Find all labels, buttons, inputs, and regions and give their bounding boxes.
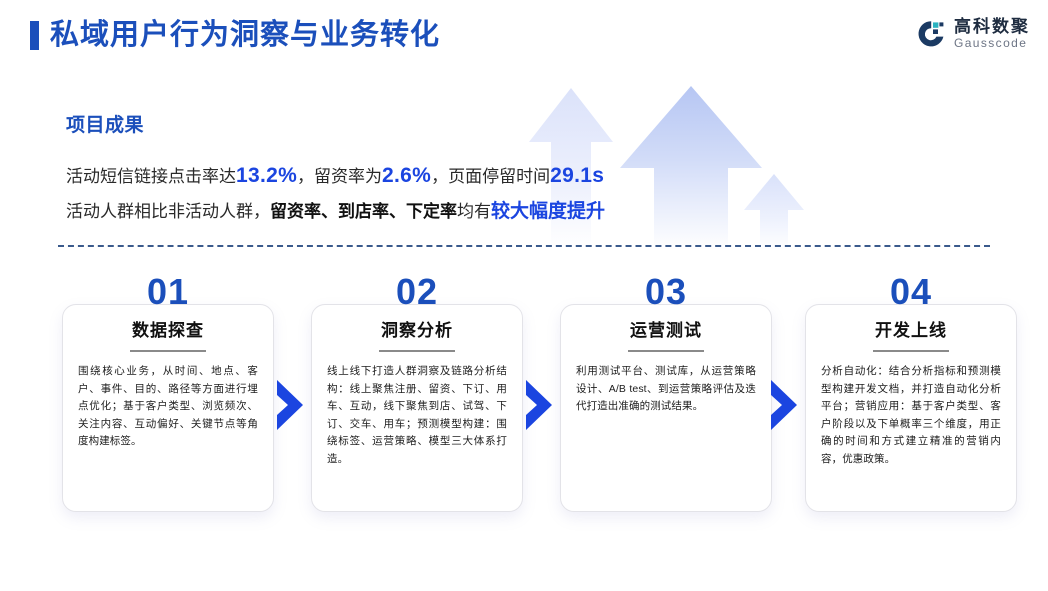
brand-text: 高科数聚 Gausscode bbox=[954, 18, 1030, 49]
section-divider bbox=[58, 245, 990, 247]
step-number-01: 01 bbox=[62, 272, 274, 312]
result-line-1: 活动短信链接点击率达13.2%，留资率为2.6%，页面停留时间29.1s bbox=[66, 158, 605, 194]
results-heading: 项目成果 bbox=[66, 110, 605, 137]
slide-header: 私域用户行为洞察与业务转化 高科数聚 Gausscode bbox=[0, 0, 1048, 78]
step-body-01: 围绕核心业务，从时间、地点、客户、事件、目的、路径等方面进行埋点优化；基于客户类… bbox=[78, 363, 258, 451]
result-line2-highlight: 较大幅度提升 bbox=[491, 201, 605, 222]
title-accent-bar bbox=[30, 21, 39, 50]
result-line1-seg2: ，留资率为 bbox=[297, 167, 382, 186]
result-line-2: 活动人群相比非活动人群，留资率、到店率、下定率均有较大幅度提升 bbox=[66, 194, 605, 229]
step-title-01: 数据探查 bbox=[78, 319, 258, 343]
result-line2-seg2: 均有 bbox=[457, 202, 491, 221]
chevron-right-icon-2 bbox=[522, 378, 556, 432]
step-title-rule bbox=[379, 350, 455, 352]
metric-dwell-time: 29.1s bbox=[550, 164, 604, 187]
process-step-03[interactable]: 03 运营测试 利用测试平台、测试库，从运营策略设计、A/B test、到运营策… bbox=[560, 272, 772, 522]
step-title-rule bbox=[628, 350, 704, 352]
process-step-01[interactable]: 01 数据探查 围绕核心业务，从时间、地点、客户、事件、目的、路径等方面进行埋点… bbox=[62, 272, 274, 522]
arrow-up-large-center-icon bbox=[618, 84, 764, 250]
metric-lead-rate: 2.6% bbox=[382, 164, 431, 187]
step-card-03[interactable]: 运营测试 利用测试平台、测试库，从运营策略设计、A/B test、到运营策略评估… bbox=[560, 304, 772, 512]
result-line2-seg1: 活动人群相比非活动人群， bbox=[66, 202, 270, 221]
step-title-02: 洞察分析 bbox=[327, 319, 507, 343]
brand-name-en: Gausscode bbox=[954, 37, 1030, 49]
chevron-right-icon-1 bbox=[273, 378, 307, 432]
step-number-04: 04 bbox=[805, 272, 1017, 312]
process-step-02[interactable]: 02 洞察分析 线上线下打造人群洞察及链路分析结构：线上聚焦注册、留资、下订、用… bbox=[311, 272, 523, 522]
arrow-up-small-right-icon bbox=[742, 172, 806, 250]
step-body-04: 分析自动化：结合分析指标和预测模型构建开发文档，并打造自动化分析平台；营销应用：… bbox=[821, 363, 1001, 468]
result-line1-seg3: ，页面停留时间 bbox=[431, 167, 550, 186]
result-line2-bold-metrics: 留资率、到店率、下定率 bbox=[270, 202, 457, 221]
step-number-02: 02 bbox=[311, 272, 523, 312]
step-card-04[interactable]: 开发上线 分析自动化：结合分析指标和预测模型构建开发文档，并打造自动化分析平台；… bbox=[805, 304, 1017, 512]
brand-logo: 高科数聚 Gausscode bbox=[917, 18, 1030, 49]
result-line1-seg1: 活动短信链接点击率达 bbox=[66, 167, 236, 186]
project-results-block: 项目成果 活动短信链接点击率达13.2%，留资率为2.6%，页面停留时间29.1… bbox=[66, 110, 605, 229]
slide-canvas: 私域用户行为洞察与业务转化 高科数聚 Gausscode 项目成果 活动短信链接… bbox=[0, 0, 1048, 591]
step-card-02[interactable]: 洞察分析 线上线下打造人群洞察及链路分析结构：线上聚焦注册、留资、下订、用车、互… bbox=[311, 304, 523, 512]
step-body-02: 线上线下打造人群洞察及链路分析结构：线上聚焦注册、留资、下订、用车、互动，线下聚… bbox=[327, 363, 507, 468]
page-title: 私域用户行为洞察与业务转化 bbox=[50, 14, 440, 56]
metric-click-rate: 13.2% bbox=[236, 164, 297, 187]
step-card-01[interactable]: 数据探查 围绕核心业务，从时间、地点、客户、事件、目的、路径等方面进行埋点优化；… bbox=[62, 304, 274, 512]
step-title-04: 开发上线 bbox=[821, 319, 1001, 343]
step-body-03: 利用测试平台、测试库，从运营策略设计、A/B test、到运营策略评估及迭代打造… bbox=[576, 363, 756, 416]
step-number-03: 03 bbox=[560, 272, 772, 312]
chevron-right-icon-3 bbox=[767, 378, 801, 432]
step-title-rule bbox=[873, 350, 949, 352]
step-title-03: 运营测试 bbox=[576, 319, 756, 343]
process-step-04[interactable]: 04 开发上线 分析自动化：结合分析指标和预测模型构建开发文档，并打造自动化分析… bbox=[805, 272, 1017, 522]
step-title-rule bbox=[130, 350, 206, 352]
gausscode-logo-icon bbox=[917, 19, 947, 49]
brand-name-cn: 高科数聚 bbox=[954, 18, 1030, 35]
